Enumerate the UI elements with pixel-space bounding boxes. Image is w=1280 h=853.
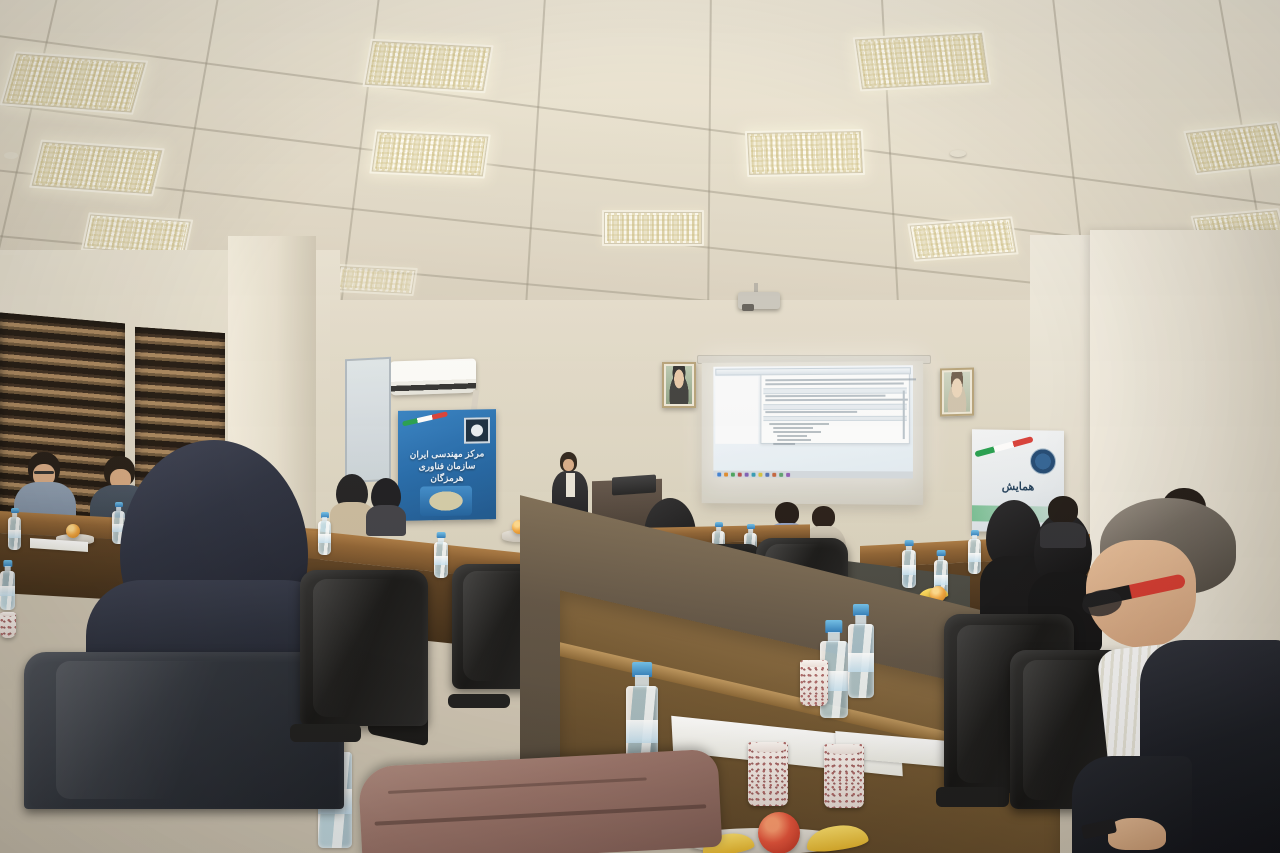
orange	[66, 524, 80, 538]
ceiling-light-panel	[910, 218, 1017, 259]
paper-cup	[824, 744, 864, 808]
water-bottle	[848, 604, 874, 698]
conference-room-photo: مرکز مهندسی ایران سازمان فناوری هرمزگان …	[0, 0, 1280, 853]
water-bottle	[902, 540, 916, 588]
presenter-laptop	[612, 474, 656, 495]
ceiling-light-panel	[2, 53, 146, 112]
bag-seam	[375, 804, 706, 825]
blue-event-banner: مرکز مهندسی ایران سازمان فناوری هرمزگان	[398, 409, 496, 521]
water-bottle	[8, 508, 21, 550]
water-bottle	[0, 560, 15, 610]
windows-taskbar	[713, 471, 913, 479]
man-with-red-glasses	[1078, 498, 1280, 853]
projector-lens-icon	[742, 304, 754, 311]
framed-portrait	[940, 368, 974, 417]
seated-attendee	[366, 478, 406, 536]
smoke-detector-icon	[4, 152, 18, 159]
projection-screen	[702, 361, 923, 505]
iran-flag-stripe-icon	[974, 436, 1033, 457]
paper-cup	[800, 660, 828, 706]
person-shirt	[566, 473, 575, 497]
water-bottle	[434, 532, 448, 578]
person-head	[775, 502, 799, 525]
paper-cup	[0, 612, 16, 638]
projected-software-window	[713, 365, 913, 478]
banner-emblem	[420, 486, 472, 517]
organization-logo-icon	[1030, 448, 1056, 474]
eyeglasses-icon	[34, 471, 54, 474]
iran-flag-stripe-icon	[402, 411, 448, 426]
executive-leather-chair	[24, 652, 344, 853]
paper-cup	[748, 742, 788, 806]
ceiling-light-panel	[855, 33, 989, 90]
ceiling-light-panel	[604, 212, 702, 244]
ceiling-light-panel	[336, 266, 415, 294]
document-panel	[760, 373, 909, 444]
ceiling-light-panel	[372, 132, 489, 177]
person-head	[1048, 496, 1078, 524]
ceiling-light-panel	[32, 142, 163, 195]
person-head	[812, 506, 835, 528]
apple	[758, 812, 800, 853]
ceiling-light-panel	[365, 41, 492, 91]
air-conditioner	[390, 358, 476, 395]
ceiling-light-panel	[1186, 123, 1280, 173]
banner-left-text: مرکز مهندسی ایران سازمان فناوری هرمزگان	[404, 447, 490, 485]
ceiling-light-panel	[747, 131, 863, 175]
bag-zipper	[388, 778, 647, 795]
person-face	[563, 459, 574, 471]
banner-right-text: همایش	[978, 479, 1058, 493]
window-side-pane	[715, 376, 758, 444]
person-hand	[1108, 818, 1166, 850]
person-torso	[366, 505, 406, 536]
organization-logo-icon	[464, 417, 490, 443]
smoke-detector-icon	[950, 150, 966, 157]
framed-portrait	[662, 362, 696, 408]
leather-briefcase	[358, 749, 723, 853]
executive-leather-chair	[300, 570, 428, 770]
